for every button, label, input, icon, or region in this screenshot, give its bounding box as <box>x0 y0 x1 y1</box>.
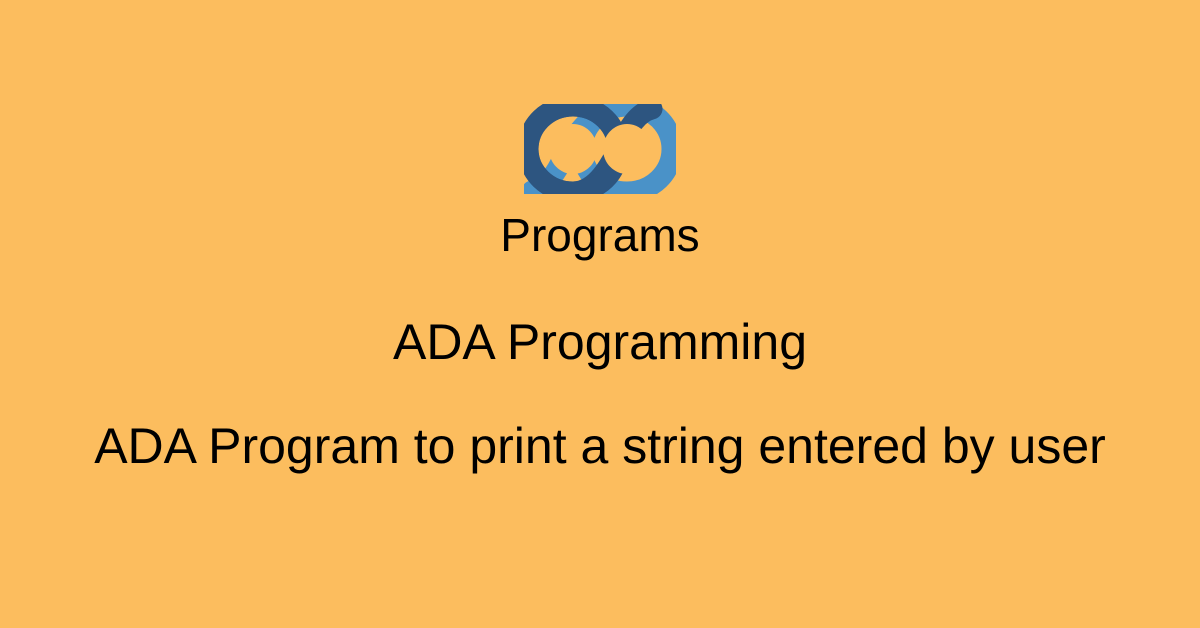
page-title: ADA Program to print a string entered by… <box>0 417 1200 475</box>
article-cover-card: Programs ADA Programming ADA Program to … <box>0 0 1200 628</box>
infinity-loops-icon <box>524 104 676 194</box>
brand-label: Programs <box>0 208 1200 262</box>
light-loop-hole <box>603 124 651 174</box>
infinity-loops-logo <box>524 104 676 194</box>
dark-loop-hole <box>549 124 597 174</box>
category-label: ADA Programming <box>0 313 1200 371</box>
